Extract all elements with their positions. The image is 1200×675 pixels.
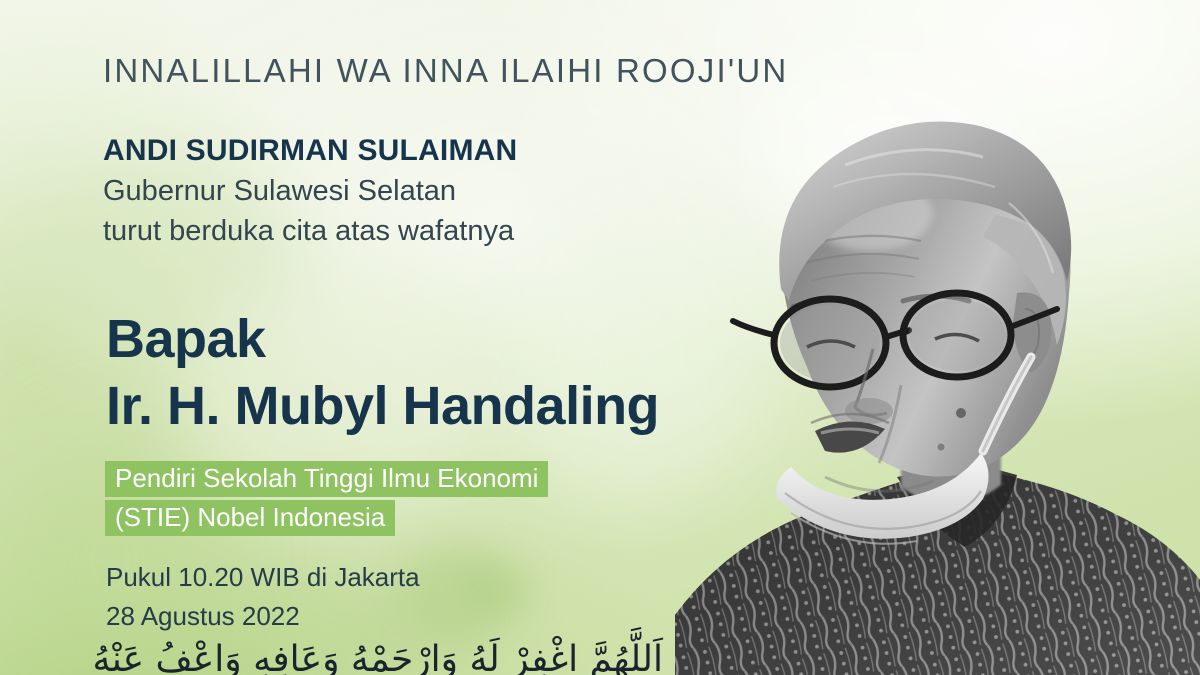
deceased-title-band: Pendiri Sekolah Tinggi Ilmu Ekonomi (STI…: [105, 461, 548, 539]
arabic-prayer-text: اَللَّهُمَّ اغْفِرْ لَهُ وَارْحَمْهُ وَع…: [103, 637, 663, 675]
deceased-honorific: Bapak: [106, 308, 266, 370]
deceased-title-line-1: Pendiri Sekolah Tinggi Ilmu Ekonomi: [105, 461, 548, 497]
deceased-name: Ir. H. Mubyl Handaling: [106, 375, 659, 437]
condolence-message: turut berduka cita atas wafatnya: [103, 215, 514, 248]
sender-role: Gubernur Sulawesi Selatan: [103, 175, 456, 208]
islamic-phrase-headline: INNALILLAHI WA INNA ILAIHI ROOJI'UN: [103, 52, 788, 90]
condolence-poster: INNALILLAHI WA INNA ILAIHI ROOJI'UN ANDI…: [0, 0, 1200, 675]
sender-name: ANDI SUDIRMAN SULAIMAN: [103, 134, 517, 168]
passing-time-place: Pukul 10.20 WIB di Jakarta: [106, 562, 420, 593]
poster-text-content: INNALILLAHI WA INNA ILAIHI ROOJI'UN ANDI…: [103, 0, 743, 675]
deceased-portrait-photo: [665, 95, 1200, 675]
deceased-title-line-2: (STIE) Nobel Indonesia: [105, 500, 395, 536]
passing-date: 28 Agustus 2022: [106, 601, 300, 632]
